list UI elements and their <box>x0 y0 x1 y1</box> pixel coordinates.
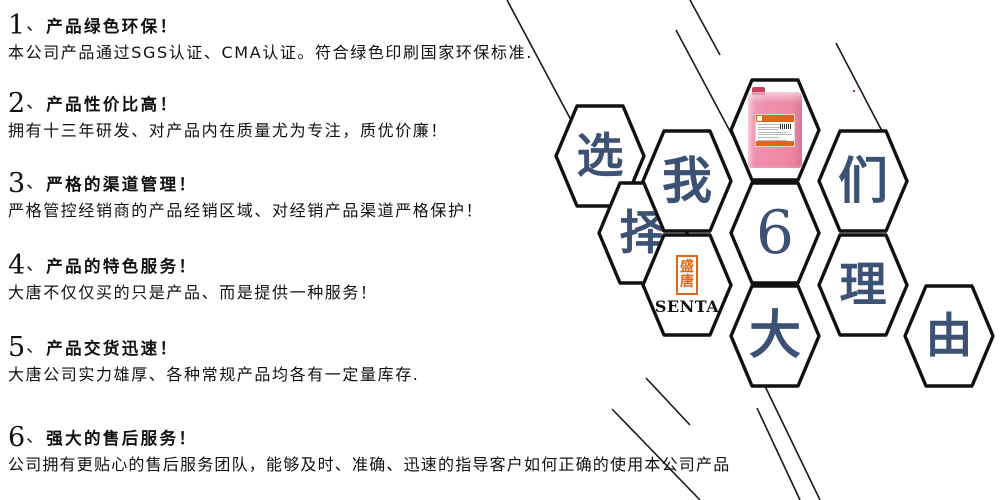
brand-wordmark: SENTA <box>655 297 719 316</box>
hexagon-outline-icon <box>817 129 909 233</box>
hexagon-cluster: 选 择 我 盛 唐 SENTA <box>0 0 1000 500</box>
poster-canvas: 1、产品绿色环保！ 本公司产品通过SGS认证、CMA认证。符合绿色印刷国家环保标… <box>0 0 1000 500</box>
hexagon-outline-icon <box>641 129 733 233</box>
jerrycan-highlight <box>748 92 802 103</box>
seal-char-top: 盛 <box>680 260 694 275</box>
hex-cell-you: 由 <box>903 284 995 388</box>
label-footer-bar <box>756 141 794 146</box>
hex-cell-logo: 盛 唐 SENTA <box>641 233 733 337</box>
hexagon-outline-icon <box>729 284 821 388</box>
hex-cell-men: 们 <box>817 129 909 233</box>
seal-char-bottom: 唐 <box>680 275 694 290</box>
hex-cell-wo: 我 <box>641 129 733 233</box>
label-barcode-icon <box>780 124 792 129</box>
hex-cell-product-image <box>729 78 821 182</box>
label-header-bar <box>756 115 794 122</box>
hexagon-outline-icon <box>729 181 821 285</box>
brand-logo: 盛 唐 SENTA <box>641 233 733 337</box>
product-photo <box>729 78 821 182</box>
hexagon-outline-icon <box>817 233 909 337</box>
hexagon-outline-icon <box>903 284 995 388</box>
hex-cell-li: 理 <box>817 233 909 337</box>
jerrycan-label <box>755 114 795 147</box>
hex-cell-six: 6 <box>729 181 821 285</box>
senta-seal-icon: 盛 唐 <box>676 255 698 295</box>
jerrycan-graphic <box>748 92 802 168</box>
hex-cell-da: 大 <box>729 284 821 388</box>
